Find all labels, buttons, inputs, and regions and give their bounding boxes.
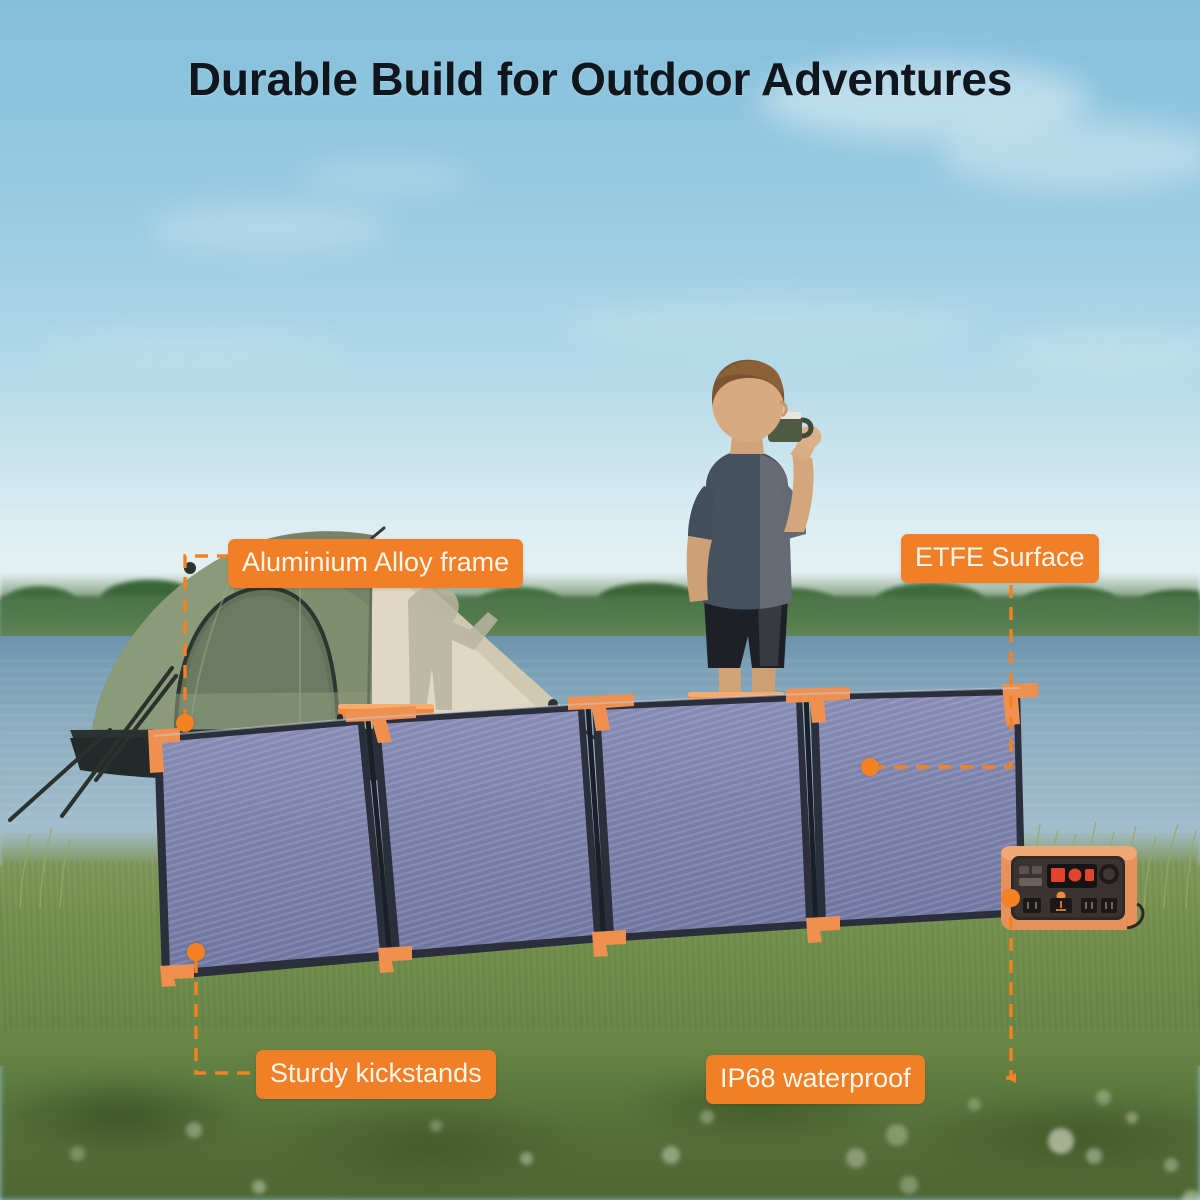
foldable-solar-panel — [140, 680, 1060, 990]
anchor-dot-sturdy-kickstands — [187, 943, 205, 961]
callout-sturdy-kickstands[interactable]: Sturdy kickstands — [256, 1050, 496, 1099]
cloud — [40, 330, 340, 370]
bokeh-highlight — [1182, 1190, 1200, 1200]
bokeh-highlight — [886, 1124, 908, 1146]
page-title: Durable Build for Outdoor Adventures — [0, 52, 1200, 106]
bokeh-highlight — [1086, 1148, 1102, 1164]
bokeh-highlight — [968, 1098, 981, 1111]
bokeh-highlight — [662, 1146, 680, 1164]
cloud — [560, 300, 980, 348]
bokeh-highlight — [70, 1146, 85, 1161]
callout-etfe-surface[interactable]: ETFE Surface — [901, 534, 1099, 583]
callout-ip68-waterproof[interactable]: IP68 waterproof — [706, 1055, 925, 1104]
anchor-dot-etfe-surface — [861, 758, 879, 776]
cloud — [300, 160, 470, 194]
bokeh-highlight — [252, 1180, 266, 1194]
bokeh-highlight — [186, 1122, 202, 1138]
bokeh-highlight — [1164, 1158, 1178, 1172]
grass-foreground-blur — [0, 1075, 1200, 1200]
bokeh-highlight — [1096, 1090, 1111, 1105]
bokeh-highlight — [846, 1148, 866, 1168]
bokeh-highlight — [520, 1152, 533, 1165]
bokeh-highlight — [1126, 1112, 1138, 1124]
anchor-dot-ip68-waterproof — [1002, 889, 1020, 907]
cloud — [150, 205, 390, 251]
product-feature-poster: Durable Build for Outdoor Adventures Alu… — [0, 0, 1200, 1200]
bokeh-highlight — [700, 1110, 714, 1124]
callout-aluminium-alloy-frame[interactable]: Aluminium Alloy frame — [228, 539, 523, 588]
bokeh-highlight — [1048, 1128, 1074, 1154]
bokeh-highlight — [900, 1176, 918, 1194]
bokeh-highlight — [430, 1120, 442, 1132]
anchor-dot-aluminium-alloy-frame — [176, 714, 194, 732]
